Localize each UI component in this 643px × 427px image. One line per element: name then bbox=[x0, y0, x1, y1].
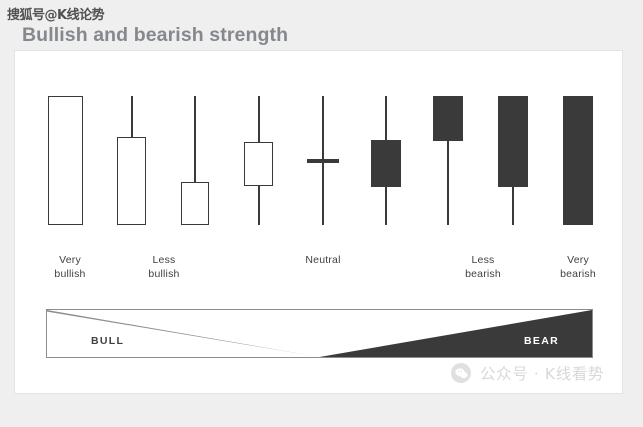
wechat-icon bbox=[451, 363, 471, 383]
candle-7-less-bearish bbox=[433, 51, 463, 251]
candle-body-hollow bbox=[181, 182, 209, 225]
label-line-2: bullish bbox=[119, 267, 209, 281]
label-less-bearish: Less bearish bbox=[438, 253, 528, 281]
bottom-watermark: 公众号 · K线看势 bbox=[451, 362, 604, 384]
candle-body-filled bbox=[498, 96, 528, 187]
label-line-2: bearish bbox=[533, 267, 623, 281]
bull-bear-strength-bar: BULL BEAR bbox=[46, 309, 593, 358]
top-watermark-text: 搜狐号@K线论势 bbox=[7, 4, 104, 23]
candle-5-neutral-doji bbox=[307, 51, 339, 251]
candle-upper-wick bbox=[131, 96, 133, 139]
candle-doji-bar bbox=[307, 159, 339, 163]
candle-8-less-bearish bbox=[498, 51, 528, 251]
candlestick-chart bbox=[15, 51, 624, 251]
label-neutral: Neutral bbox=[278, 253, 368, 267]
label-very-bearish: Very bearish bbox=[533, 253, 623, 281]
candle-2-less-bullish bbox=[117, 51, 146, 251]
candle-lower-wick bbox=[447, 139, 449, 225]
label-line-1: Very bbox=[25, 253, 115, 267]
label-line-2: bullish bbox=[25, 267, 115, 281]
page-title: Bullish and bearish strength bbox=[22, 24, 288, 47]
candle-9-very-bearish bbox=[563, 51, 593, 251]
bear-label: BEAR bbox=[524, 335, 559, 347]
candle-body-filled bbox=[433, 96, 463, 141]
label-line-1: Very bbox=[533, 253, 623, 267]
candle-upper-wick bbox=[194, 96, 196, 184]
candle-body-hollow bbox=[117, 137, 146, 225]
bull-label: BULL bbox=[91, 335, 124, 347]
chart-card: Very bullish Less bullish Neutral Less b… bbox=[14, 50, 623, 394]
label-very-bullish: Very bullish bbox=[25, 253, 115, 281]
candle-6-neutral-bearish bbox=[371, 51, 401, 251]
candle-body-filled bbox=[563, 96, 593, 225]
candle-3-less-bullish bbox=[181, 51, 209, 251]
bottom-watermark-text: 公众号 · K线看势 bbox=[480, 362, 604, 384]
candle-1-very-bullish bbox=[48, 51, 83, 251]
label-line-1: Less bbox=[438, 253, 528, 267]
label-line-1: Less bbox=[119, 253, 209, 267]
candle-body-filled bbox=[371, 140, 401, 187]
label-less-bullish: Less bullish bbox=[119, 253, 209, 281]
candle-label-row: Very bullish Less bullish Neutral Less b… bbox=[15, 253, 624, 303]
label-line-2: bearish bbox=[438, 267, 528, 281]
label-line-1: Neutral bbox=[278, 253, 368, 267]
candle-body-hollow bbox=[48, 96, 83, 225]
candle-4-neutral-bullish bbox=[244, 51, 273, 251]
candle-lower-wick bbox=[512, 185, 514, 225]
candle-body-hollow bbox=[244, 142, 273, 186]
